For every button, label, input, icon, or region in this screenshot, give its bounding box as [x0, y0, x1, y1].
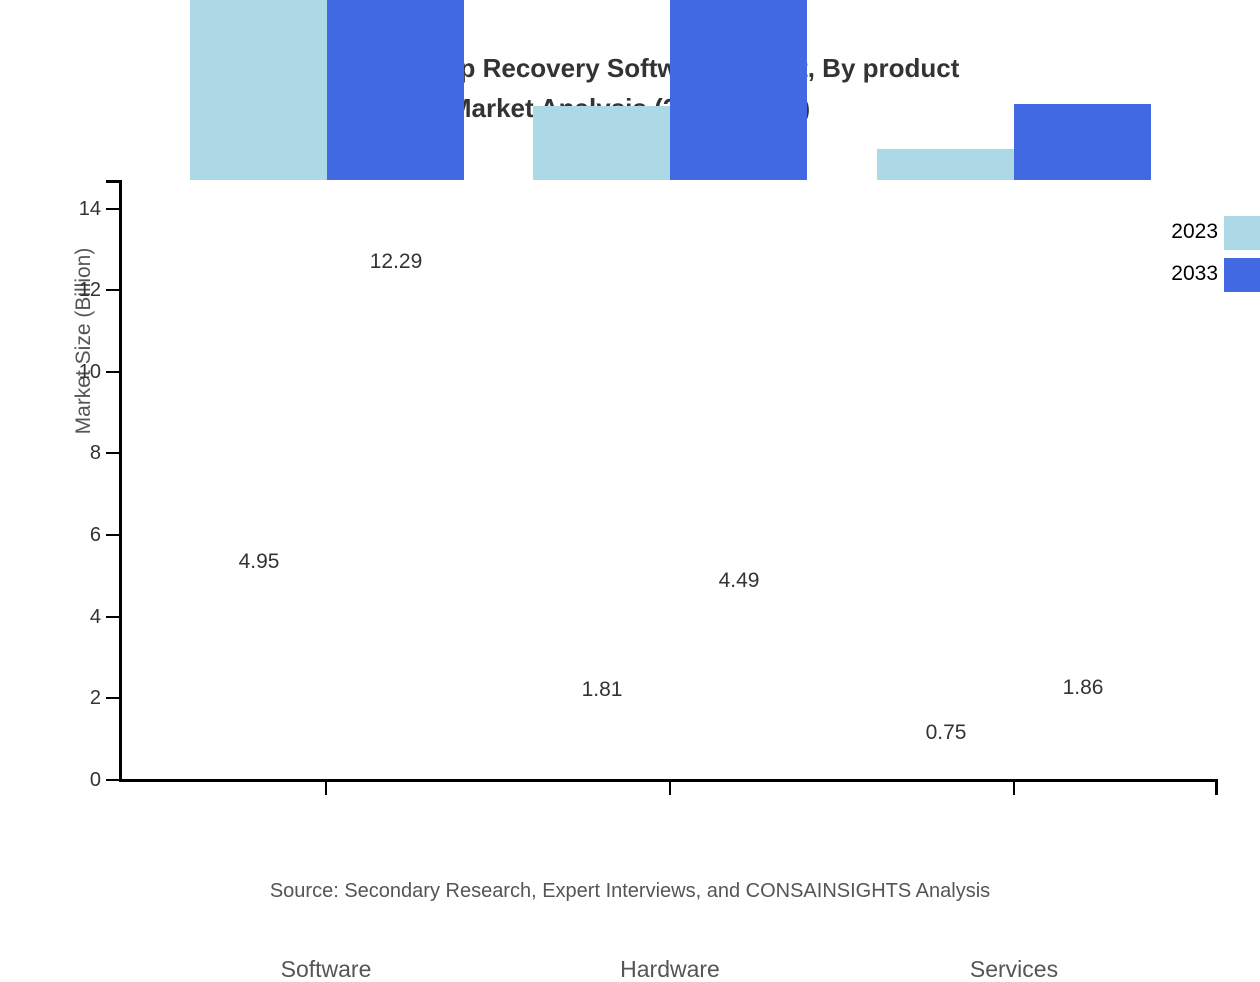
- y-tick-mark: [106, 779, 119, 781]
- bar-services-2033[interactable]: [1014, 104, 1151, 180]
- x-tick-label-software: Software: [186, 956, 466, 982]
- y-tick-mark: [106, 289, 119, 291]
- y-tick-label: 4: [41, 607, 101, 627]
- y-axis-top-cap: [106, 180, 122, 183]
- legend-item-2023[interactable]: 2023: [1100, 220, 1260, 258]
- x-tick-label-hardware: Hardware: [530, 956, 810, 982]
- bar-value-services-2023: 0.75: [846, 722, 1046, 743]
- bar-value-software-2033: 12.29: [296, 251, 496, 272]
- bar-hardware-2033[interactable]: [670, 0, 807, 180]
- bar-software-2033[interactable]: [327, 0, 464, 180]
- y-tick-mark: [106, 208, 119, 210]
- bar-value-software-2023: 4.95: [159, 551, 359, 572]
- x-tick-mark: [669, 782, 671, 795]
- bar-chart-figure: Cloud Backup Recovery Software Market, B…: [0, 0, 1260, 920]
- bar-value-services-2033: 1.86: [983, 677, 1183, 698]
- y-tick-mark: [106, 371, 119, 373]
- bar-services-2023[interactable]: [877, 149, 1014, 180]
- y-tick-label: 8: [41, 443, 101, 463]
- x-tick-mark: [325, 782, 327, 795]
- y-tick-mark: [106, 534, 119, 536]
- y-axis-line: [119, 180, 122, 781]
- legend: 2023 2033: [1100, 212, 1260, 307]
- legend-item-2033[interactable]: 2033: [1100, 262, 1260, 300]
- y-tick-label: 2: [41, 688, 101, 708]
- y-tick-label: 10: [41, 362, 101, 382]
- bar-value-hardware-2033: 4.49: [639, 570, 839, 591]
- plot-area: 0 2 4 6 8 10 12 14 Software Hardware Ser…: [119, 180, 1218, 781]
- y-tick-label: 6: [41, 525, 101, 545]
- x-axis-right-cap: [1215, 779, 1218, 795]
- bar-value-hardware-2023: 1.81: [502, 679, 702, 700]
- y-tick-mark: [106, 452, 119, 454]
- y-tick-mark: [106, 616, 119, 618]
- bar-software-2023[interactable]: [190, 0, 327, 180]
- legend-label-2033: 2033: [1100, 262, 1218, 286]
- y-tick-label: 0: [41, 770, 101, 790]
- legend-swatch-2033: [1224, 258, 1260, 292]
- legend-label-2023: 2023: [1100, 220, 1218, 244]
- legend-swatch-2023: [1224, 216, 1260, 250]
- x-tick-label-services: Services: [874, 956, 1154, 982]
- y-tick-label: 14: [41, 199, 101, 219]
- source-note: Source: Secondary Research, Expert Inter…: [0, 878, 1260, 904]
- bar-hardware-2023[interactable]: [533, 106, 670, 180]
- x-tick-mark: [1013, 782, 1015, 795]
- y-tick-label: 12: [41, 280, 101, 300]
- y-tick-mark: [106, 697, 119, 699]
